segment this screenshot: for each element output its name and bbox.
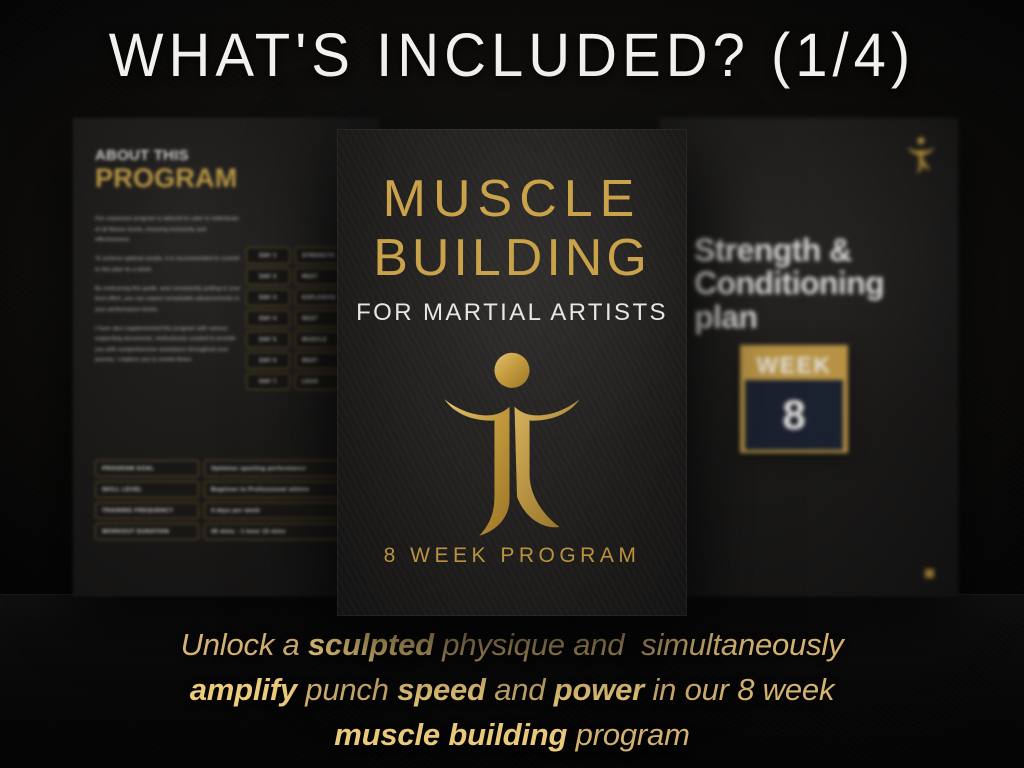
caption-seg-bold: muscle building [334, 717, 567, 752]
about-program-card[interactable]: ABOUT THIS PROGRAM Our expansive program… [73, 118, 378, 596]
page-title: WHAT'S INCLUDED? (1/4) [0, 24, 1024, 89]
caption-seg: program [567, 717, 689, 752]
sc-title-line3: plan [694, 299, 757, 335]
caption-seg-bold: sculpted [308, 627, 434, 662]
day-label: DAY 3 [246, 289, 290, 306]
caption-seg: in our 8 week [644, 672, 834, 707]
caption-seg: and [486, 672, 554, 707]
about-title: PROGRAM [95, 164, 360, 192]
spec-key: TRAINING FREQUENCY [95, 502, 199, 519]
table-row: SKILL LEVEL Beginner to Professional ath… [95, 481, 378, 498]
week-label: WEEK [745, 350, 843, 380]
caption-seg-bold: amplify [190, 672, 297, 707]
day-label: DAY 4 [246, 310, 290, 327]
strength-conditioning-card[interactable]: Strength & Conditioning plan WEEK 8 [660, 118, 958, 596]
muscle-building-cover-card[interactable]: MUSCLE BUILDING FOR MARTIAL ARTISTS [337, 129, 687, 616]
caption-seg: Unlock a [181, 627, 308, 662]
caption-text: Unlock a sculpted physique and simultane… [0, 622, 1024, 757]
cover-footer: 8 WEEK PROGRAM [337, 544, 687, 568]
table-row: WORKOUT DURATION 45 mins - 1 hour 15 min… [95, 523, 378, 540]
caption-line-3: muscle building program [0, 712, 1024, 757]
martial-artist-figure-icon [906, 134, 936, 176]
program-spec-table: PROGRAM GOAL Optimise sporting performan… [95, 460, 378, 540]
spec-key: PROGRAM GOAL [95, 460, 199, 477]
day-label: DAY 1 [246, 247, 290, 264]
strength-conditioning-card-inner: Strength & Conditioning plan WEEK 8 [660, 118, 958, 596]
martial-artist-figure-icon [426, 349, 598, 537]
sc-title-line1: Strength & [694, 232, 852, 268]
caption-line-1: Unlock a sculpted physique and simultane… [0, 622, 1024, 667]
table-row: PROGRAM GOAL Optimise sporting performan… [95, 460, 378, 477]
cover-subtitle: FOR MARTIAL ARTISTS [356, 299, 668, 327]
caption-line-2: amplify punch speed and power in our 8 w… [0, 667, 1024, 712]
caption-seg-bold: speed [397, 672, 486, 707]
day-label: DAY 5 [246, 331, 290, 348]
corner-mark-icon [925, 569, 934, 578]
week-number: 8 [782, 394, 805, 436]
table-row: TRAINING FREQUENCY 4 days per week [95, 502, 378, 519]
day-label: DAY 2 [246, 268, 290, 285]
day-label: DAY 7 [246, 373, 290, 390]
slide-canvas: WHAT'S INCLUDED? (1/4) ABOUT THIS PROGRA… [0, 0, 1024, 768]
strength-conditioning-title: Strength & Conditioning plan [694, 234, 948, 334]
about-paragraph: I have also supplemented this program wi… [95, 324, 243, 365]
muscle-building-cover-inner: MUSCLE BUILDING FOR MARTIAL ARTISTS [337, 129, 687, 616]
about-kicker: ABOUT THIS [95, 148, 360, 163]
week-badge: WEEK 8 [740, 345, 848, 453]
about-paragraph: By embracing this guide, and consistentl… [95, 284, 243, 315]
cover-title-line1: MUSCLE [383, 173, 642, 225]
about-paragraph: Our expansive program is tailored to cat… [95, 214, 243, 245]
week-number-box: 8 [745, 380, 843, 450]
caption-seg: physique and simultaneously [434, 627, 844, 662]
day-label: DAY 6 [246, 352, 290, 369]
about-paragraph: To achieve optimal results, it is recomm… [95, 254, 243, 275]
caption-seg-bold: power [554, 672, 644, 707]
about-body-text: Our expansive program is tailored to cat… [95, 214, 243, 365]
cover-title-line2: BUILDING [373, 232, 651, 284]
caption-seg: punch [297, 672, 397, 707]
spec-key: SKILL LEVEL [95, 481, 199, 498]
spec-key: WORKOUT DURATION [95, 523, 199, 540]
sc-title-line2: Conditioning [694, 265, 884, 301]
